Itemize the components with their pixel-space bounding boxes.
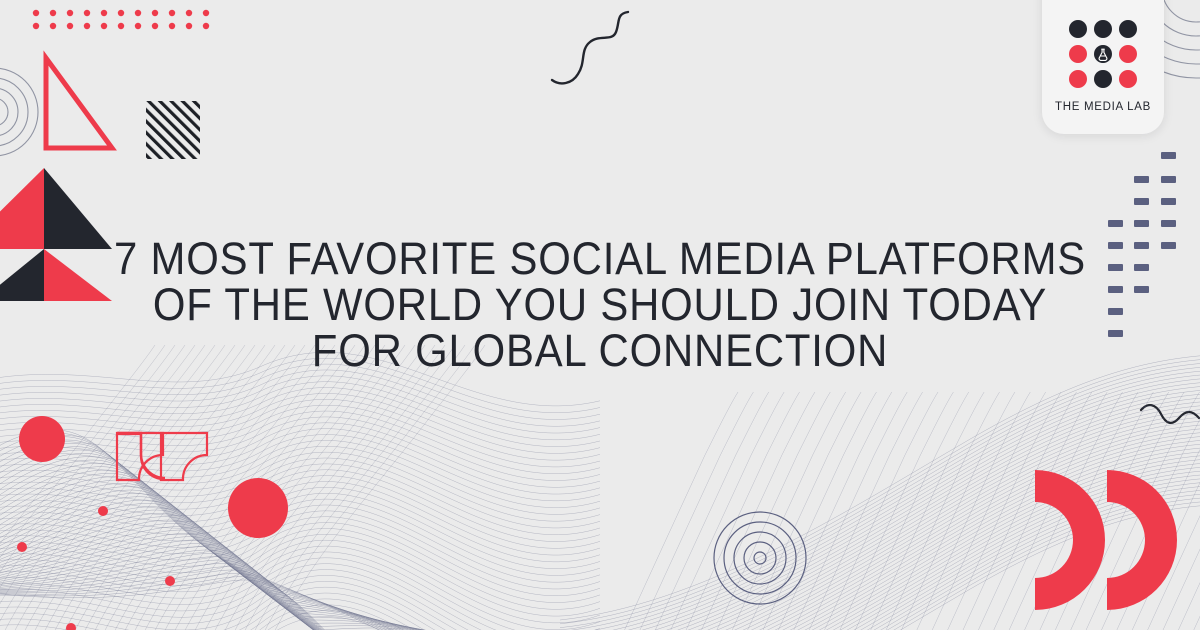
red-circle-small-4	[66, 623, 76, 630]
logo-dot-grid	[1069, 20, 1137, 88]
logo-dot-1	[1069, 20, 1087, 38]
logo-dot-8	[1094, 70, 1112, 88]
logo-wordmark: THE MEDIA LAB	[1055, 101, 1151, 113]
logo-card[interactable]: THE MEDIA LAB	[1042, 0, 1164, 134]
logo-dot-3	[1119, 20, 1137, 38]
concentric-circles-bottom	[714, 512, 806, 604]
logo-dot-6	[1119, 45, 1137, 63]
red-circle-large	[228, 478, 288, 538]
logo-dot-9	[1119, 70, 1137, 88]
title-line-2: OF THE WORLD YOU SHOULD JOIN TODAY	[42, 282, 1158, 328]
red-circle-small-1	[98, 506, 108, 516]
logo-dot-4	[1069, 45, 1087, 63]
squiggle-top	[552, 12, 628, 83]
quote-marks	[117, 433, 207, 480]
banner-canvas: 7 MOST FAVORITE SOCIAL MEDIA PLATFORMS O…	[0, 0, 1200, 630]
concentric-circles-left	[0, 68, 38, 156]
logo-dot-7	[1069, 70, 1087, 88]
flask-icon	[1094, 45, 1112, 63]
red-circle-small-3	[165, 576, 175, 586]
wave-mesh	[0, 345, 640, 630]
title-line-1: 7 MOST FAVORITE SOCIAL MEDIA PLATFORMS	[42, 236, 1158, 282]
logo-dot-2	[1094, 20, 1112, 38]
quote-marks	[117, 433, 165, 478]
outline-triangle	[46, 58, 112, 148]
red-circle-small-2	[17, 542, 27, 552]
red-circle-medium	[19, 416, 65, 462]
dot-grid-top-left	[33, 10, 209, 29]
page-title: 7 MOST FAVORITE SOCIAL MEDIA PLATFORMS O…	[0, 236, 1200, 374]
title-line-3: FOR GLOBAL CONNECTION	[42, 328, 1158, 374]
striped-square	[146, 101, 200, 159]
quote-marks-final	[117, 434, 164, 479]
wave-mesh-right	[560, 355, 1200, 630]
squiggle-right	[1141, 405, 1199, 423]
crescent-pair	[1035, 470, 1177, 610]
